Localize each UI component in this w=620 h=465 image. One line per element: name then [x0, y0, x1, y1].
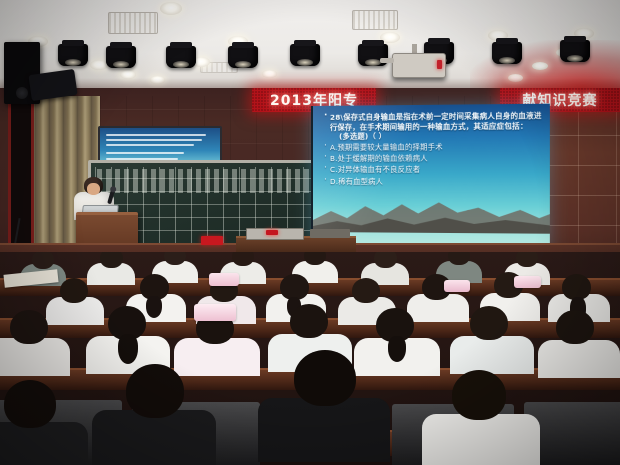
stage-spotlight [492, 42, 522, 64]
person-head [32, 252, 54, 269]
audience-area [0, 252, 620, 465]
person-ponytail [388, 336, 406, 362]
hvac-vent [108, 12, 158, 34]
person-head [60, 278, 88, 303]
hvac-vent [352, 10, 398, 30]
stage-spotlight [58, 44, 88, 66]
person-ponytail [146, 296, 162, 318]
ceiling-downlight [262, 70, 277, 78]
person-head [374, 252, 397, 268]
person-head [100, 252, 123, 268]
person-shoulders [0, 422, 88, 465]
stage-spotlight [560, 40, 590, 62]
person-head [10, 310, 48, 344]
person-head [352, 278, 380, 303]
nurse-cap [444, 280, 470, 292]
amplifier-display [266, 230, 278, 235]
person-shoulders [0, 338, 70, 376]
equipment-box [310, 229, 350, 238]
nurse-cap [194, 304, 236, 321]
person-head [470, 306, 508, 340]
person-head [556, 310, 594, 344]
projector [392, 53, 446, 78]
person-head [126, 364, 184, 418]
person-shoulders [422, 414, 540, 465]
ceiling-downlight [160, 2, 182, 15]
person-shoulders [538, 340, 620, 378]
blackboard-writing [97, 169, 315, 193]
person-shoulders [92, 410, 216, 465]
person-shoulders [450, 336, 534, 374]
person-head [4, 380, 56, 428]
lecture-hall-photo: 2013年阳专 献知识竞赛 28\保存式自身输血是指在术前一定时间采集病人自身的… [0, 0, 620, 465]
red-indicator-sign [201, 236, 223, 245]
nurse-cap [514, 276, 541, 288]
person-head [290, 304, 328, 338]
person-ponytail [118, 334, 138, 364]
presenter-face [87, 183, 100, 195]
person-shoulders [258, 398, 390, 462]
person-head [294, 350, 356, 406]
stage-spotlight [166, 46, 196, 68]
stage-spotlight [290, 44, 320, 66]
person-head [452, 370, 506, 420]
nurse-cap [209, 273, 239, 286]
stage-spotlight [106, 46, 136, 68]
wall-niche [8, 96, 34, 252]
ceiling-downlight [532, 62, 548, 70]
stage-spotlight [228, 46, 258, 68]
person-head [516, 252, 538, 267]
